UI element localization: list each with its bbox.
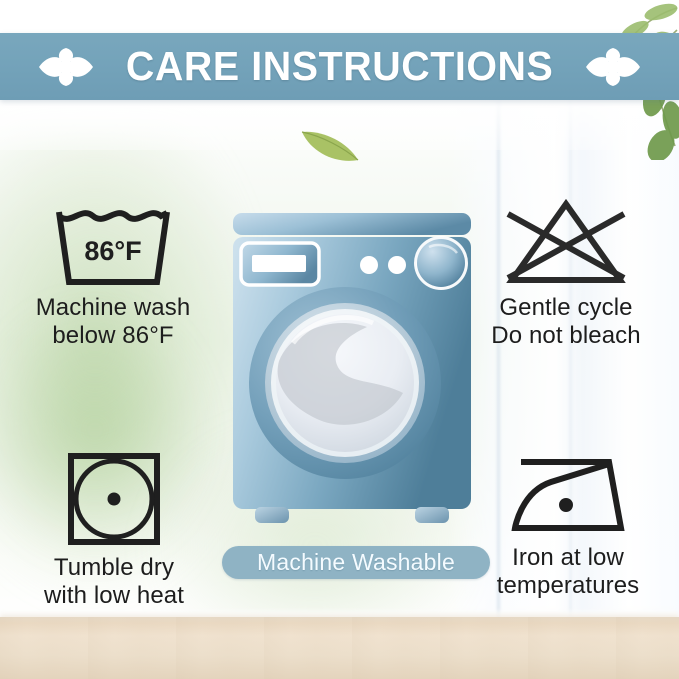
fleur-de-lis-icon xyxy=(33,44,99,90)
care-symbol-do-not-bleach: Gentle cycle Do not bleach xyxy=(460,196,672,350)
care-symbol-machine-wash: 86°F Machine wash below 86°F xyxy=(8,204,218,350)
control-knob xyxy=(414,236,468,290)
page-title: CARE INSTRUCTIONS xyxy=(126,46,553,87)
floating-leaf-icon xyxy=(298,122,362,166)
care-symbol-caption: Machine wash below 86°F xyxy=(36,294,191,350)
washing-machine-illustration xyxy=(227,213,477,533)
iron-icon xyxy=(503,452,633,538)
care-instructions-graphic: CARE INSTRUCTIONS 86°F Machine wash belo… xyxy=(0,0,679,679)
table-grain xyxy=(0,617,679,679)
care-symbol-iron: Iron at low temperatures xyxy=(462,452,674,600)
machine-lid xyxy=(233,213,471,235)
care-symbol-caption: Tumble dry with low heat xyxy=(44,554,184,610)
crossed-triangle-icon xyxy=(496,196,636,288)
detergent-drawer xyxy=(241,243,319,285)
machine-foot xyxy=(255,507,289,523)
care-symbol-caption: Iron at low temperatures xyxy=(497,544,640,600)
care-symbol-tumble-dry: Tumble dry with low heat xyxy=(10,450,218,610)
badge-label: Machine Washable xyxy=(257,551,455,574)
indicator-light xyxy=(360,256,378,274)
tumble-dry-icon xyxy=(65,450,163,548)
care-symbol-caption: Gentle cycle Do not bleach xyxy=(491,294,640,350)
indicator-light xyxy=(388,256,406,274)
machine-feet xyxy=(255,507,449,523)
machine-foot xyxy=(415,507,449,523)
wash-temperature-label: 86°F xyxy=(84,236,141,266)
machine-washable-badge: Machine Washable xyxy=(222,546,490,579)
porthole-door xyxy=(249,287,441,479)
fleur-de-lis-icon-right xyxy=(580,44,646,90)
wash-tub-icon: 86°F xyxy=(51,204,175,288)
header-banner: CARE INSTRUCTIONS xyxy=(0,33,679,100)
table-surface xyxy=(0,617,679,679)
